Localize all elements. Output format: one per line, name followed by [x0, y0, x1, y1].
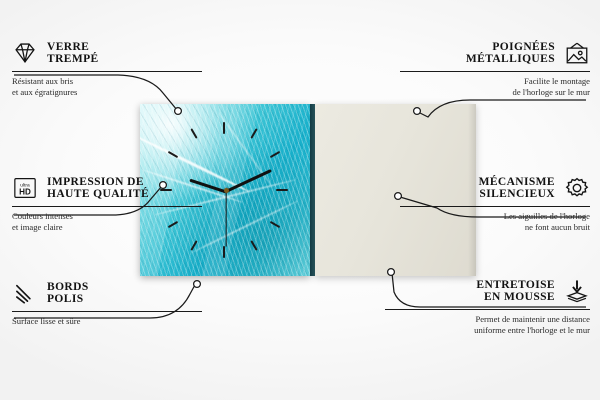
divider — [12, 206, 202, 207]
divider — [385, 309, 590, 310]
feature-title: POIGNÉES MÉTALLIQUES — [466, 41, 555, 66]
feature-header: ENTRETOISE EN MOUSSE — [385, 278, 590, 304]
feature-impression-hd: ultra HD IMPRESSION DE HAUTE QUALITÉ Cou… — [12, 175, 202, 232]
feature-header: POIGNÉES MÉTALLIQUES — [400, 40, 590, 66]
picture-hanger-icon — [564, 40, 590, 66]
dial-tick — [223, 246, 225, 258]
second-hand — [225, 191, 226, 247]
feature-header: MÉCANISME SILENCIEUX — [400, 175, 590, 201]
feature-title: IMPRESSION DE HAUTE QUALITÉ — [47, 176, 149, 201]
gear-icon — [564, 175, 590, 201]
feature-mecanisme-silencieux: MÉCANISME SILENCIEUX Les aiguilles de l'… — [400, 175, 590, 232]
infographic-canvas: VERRE TREMPÉ Résistant aux bris et aux é… — [0, 0, 600, 400]
divider — [400, 206, 590, 207]
foam-spacer-icon — [564, 278, 590, 304]
feature-header: VERRE TREMPÉ — [12, 40, 202, 66]
divider — [12, 71, 202, 72]
polished-edge-icon — [12, 280, 38, 306]
feature-title: VERRE TREMPÉ — [47, 41, 99, 66]
feature-poignees-metalliques: POIGNÉES MÉTALLIQUES Facilite le montage… — [400, 40, 590, 97]
feature-title: MÉCANISME SILENCIEUX — [479, 176, 555, 201]
diamond-icon — [12, 40, 38, 66]
feature-verre-trempe: VERRE TREMPÉ Résistant aux bris et aux é… — [12, 40, 202, 97]
feature-bords-polis: BORDS POLIS Surface lisse et sûre — [12, 280, 202, 327]
svg-text:HD: HD — [19, 188, 31, 197]
divider — [12, 311, 202, 312]
feature-header: ultra HD IMPRESSION DE HAUTE QUALITÉ — [12, 175, 202, 201]
hand-hub — [224, 188, 229, 193]
ultra-hd-icon: ultra HD — [12, 175, 38, 201]
feature-title: BORDS POLIS — [47, 281, 89, 306]
dial-tick — [223, 122, 225, 134]
feature-title: ENTRETOISE EN MOUSSE — [476, 279, 555, 304]
divider — [400, 71, 590, 72]
dial-tick — [276, 189, 288, 191]
feature-entretoise-mousse: ENTRETOISE EN MOUSSE Permet de maintenir… — [385, 278, 590, 335]
feature-header: BORDS POLIS — [12, 280, 202, 306]
